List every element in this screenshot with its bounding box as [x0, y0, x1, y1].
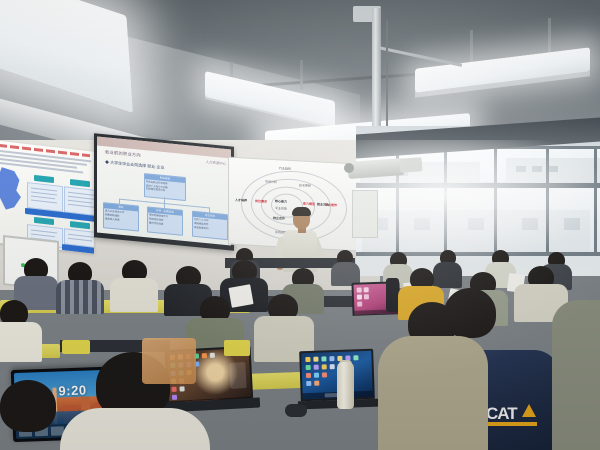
computer-mouse[interactable]	[285, 404, 307, 417]
classroom-photo: 就业前的职业方向 人力资源中心 ◆ 大学生毕业去向选择 就业·企业 职业规划 毕…	[0, 0, 600, 450]
slide-node-root: 职业规划 毕业生就业方向选择 结合个人能力与兴趣 匹配岗位需求方向	[144, 173, 186, 201]
wb-red-label-2: 能力模型	[303, 202, 315, 207]
light-hanger	[300, 60, 303, 90]
sticky-note	[62, 340, 90, 354]
light-hanger	[470, 30, 473, 64]
cat-logo-triangle-icon	[522, 404, 536, 417]
fabric-bag	[142, 338, 196, 384]
slide-logo: 人力资源中心	[206, 159, 226, 166]
student-body	[552, 300, 600, 450]
wall-air-conditioner	[352, 190, 378, 238]
slide-bullet: ◆ 大学生毕业去向选择 就业·企业	[105, 159, 165, 171]
presenter-speaker[interactable]	[275, 207, 276, 208]
slide-node-1: 就业 进入企业单位工作 积累实践经验 稳定收入来源	[103, 202, 139, 231]
student-foreground-body	[60, 408, 210, 450]
cat-brand-logo: CAT	[486, 404, 538, 426]
wb-outer-label-2: 市场分析	[265, 180, 277, 185]
wb-dark-label-2: 就业方向	[317, 202, 329, 207]
wb-outer-label-1: 行业趋势	[279, 166, 291, 171]
projector-connector-box	[400, 157, 423, 173]
student-body	[378, 336, 488, 450]
student-body-plaid	[56, 280, 104, 314]
projector-lens-icon	[344, 163, 354, 173]
student-body	[0, 322, 42, 362]
cat-logo-text: CAT	[486, 404, 517, 424]
student-head	[0, 380, 56, 432]
wb-outer-label-3: 技术更新	[299, 183, 311, 188]
student-body	[433, 262, 462, 288]
slide-node-2: 升学 · 出国深造 考研考博继续学习 申请海外院校 提升学历背景	[147, 206, 183, 235]
slide-title: 就业前的职业方向	[105, 149, 141, 158]
cat-logo-bar	[487, 422, 537, 426]
wb-dark-label-3: 校企合作	[273, 216, 285, 221]
student-body	[110, 278, 158, 312]
wb-center-label-2: 专业技能	[275, 206, 287, 211]
wb-dark-label-1: 人才培养	[235, 198, 247, 203]
paper-handout	[228, 284, 253, 308]
white-water-bottle	[337, 362, 354, 409]
poster-map-graphic	[0, 167, 22, 212]
wb-red-label-1: 岗位需求	[255, 199, 267, 204]
wb-center-label-1: 核心能力	[275, 199, 287, 204]
presenter-hair	[292, 207, 311, 216]
slide-node-3: 自主创业 创办个人公司 承担经营风险 自由发展空间	[192, 211, 228, 240]
sticky-note	[224, 340, 250, 356]
